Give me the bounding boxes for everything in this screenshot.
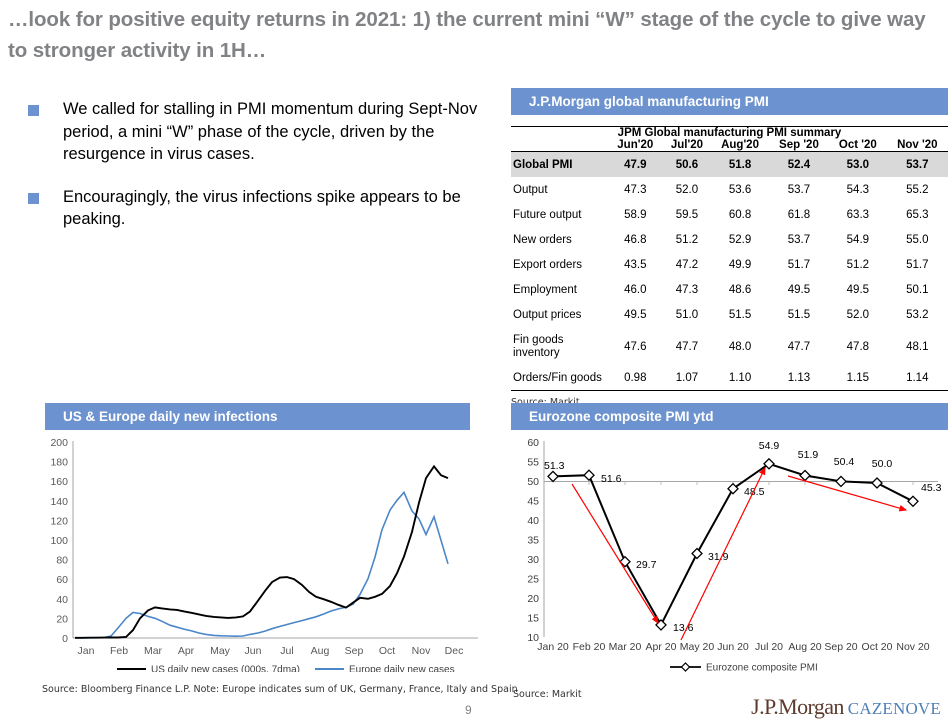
cell: 49.5: [608, 302, 663, 327]
cell: 48.1: [887, 327, 948, 365]
cell: 53.7: [887, 152, 948, 178]
svg-text:35: 35: [527, 535, 539, 547]
svg-text:160: 160: [50, 476, 68, 488]
svg-text:Jul 20: Jul 20: [755, 641, 783, 653]
cell: 53.6: [711, 177, 768, 202]
eurozone-pmi-line-chart: 60 55 50 45 40 35 30 25 20 15 10: [508, 432, 948, 677]
svg-text:51.9: 51.9: [798, 449, 819, 461]
row-label: Output prices: [511, 302, 608, 327]
svg-text:100: 100: [50, 535, 68, 547]
cell: 63.3: [829, 202, 886, 227]
table-header-row: Jun'20 Jul'20 Aug'20 Sep '20 Oct '20 Nov…: [511, 139, 948, 151]
svg-text:50: 50: [527, 476, 539, 488]
eurozone-panel-header-label: Eurozone composite PMI ytd: [529, 409, 714, 424]
cell: 51.5: [769, 302, 829, 327]
column-header: Nov '20: [887, 139, 948, 151]
cell: 59.5: [663, 202, 712, 227]
infections-line-chart: 200 180 160 140 120 100 80 60 40 20 0 Ja…: [38, 432, 483, 672]
cell: 65.3: [887, 202, 948, 227]
page-number: 9: [465, 703, 472, 717]
cell: 58.9: [608, 202, 663, 227]
svg-text:55: 55: [527, 457, 539, 469]
cell: 1.13: [769, 365, 829, 391]
y-axis-labels: 60 55 50 45 40 35 30 25 20 15 10: [527, 437, 539, 644]
svg-text:25: 25: [527, 574, 539, 586]
eurozone-panel-header: Eurozone composite PMI ytd: [511, 403, 948, 430]
table-row: Output 47.3 52.0 53.6 53.7 54.3 55.2: [511, 177, 948, 202]
cell: 1.14: [887, 365, 948, 391]
row-label: New orders: [511, 227, 608, 252]
svg-text:Jun: Jun: [245, 645, 262, 657]
cell: 1.15: [829, 365, 886, 391]
svg-text:50.4: 50.4: [834, 456, 855, 468]
cell: 50.6: [663, 152, 712, 178]
table-title: JPM Global manufacturing PMI summary: [511, 127, 948, 139]
y-axis-labels: 200 180 160 140 120 100 80 60 40 20 0: [50, 437, 68, 645]
svg-text:Oct: Oct: [379, 645, 395, 657]
table-row: Future output 58.9 59.5 60.8 61.8 63.3 6…: [511, 202, 948, 227]
row-label: Fin goods inventory: [511, 327, 608, 365]
svg-text:80: 80: [56, 555, 68, 567]
square-bullet-icon: [28, 193, 39, 204]
logo-primary-text: J.P.Morgan: [751, 694, 844, 719]
svg-text:40: 40: [56, 594, 68, 606]
cell: 49.5: [829, 277, 886, 302]
cell: 55.0: [887, 227, 948, 252]
table-row: Fin goods inventory 47.6 47.7 48.0 47.7 …: [511, 327, 948, 365]
cell: 61.8: [769, 202, 829, 227]
svg-text:Jun 20: Jun 20: [717, 641, 749, 653]
arrow-down-collapse-icon: [572, 484, 658, 623]
infections-panel-header: US & Europe daily new infections: [45, 403, 470, 430]
svg-text:Apr: Apr: [178, 645, 195, 657]
table-row: Employment 46.0 47.3 48.6 49.5 49.5 50.1: [511, 277, 948, 302]
cell: 52.0: [829, 302, 886, 327]
table-row: Output prices 49.5 51.0 51.5 51.5 52.0 5…: [511, 302, 948, 327]
cell: 52.9: [711, 227, 768, 252]
legend-label-us: US daily new cases (000s, 7dma): [151, 665, 300, 673]
row-label: Employment: [511, 277, 608, 302]
chart-legend: US daily new cases (000s, 7dma) Europe d…: [117, 665, 455, 673]
cell: 47.7: [769, 327, 829, 365]
data-labels: 51.3 51.6 29.7 13.6 31.9 48.5 54.9 51.9 …: [544, 440, 942, 634]
cell: 60.8: [711, 202, 768, 227]
table-row: Export orders 43.5 47.2 49.9 51.7 51.2 5…: [511, 252, 948, 277]
svg-text:Mar: Mar: [144, 645, 163, 657]
cell: 55.2: [887, 177, 948, 202]
cell: 1.07: [663, 365, 712, 391]
svg-text:20: 20: [56, 613, 68, 625]
svg-text:54.9: 54.9: [759, 440, 780, 452]
pmi-panel-header-label: J.P.Morgan global manufacturing PMI: [529, 94, 769, 109]
svg-text:30: 30: [527, 554, 539, 566]
column-header: Aug'20: [711, 139, 768, 151]
cell: 47.9: [608, 152, 663, 178]
cell: 53.7: [769, 227, 829, 252]
svg-text:Nov 20: Nov 20: [896, 641, 929, 653]
svg-text:Jan: Jan: [78, 645, 95, 657]
svg-text:60: 60: [56, 574, 68, 586]
svg-text:May 20: May 20: [680, 641, 715, 653]
cell: 0.98: [608, 365, 663, 391]
cell: 52.4: [769, 152, 829, 178]
cell: 51.5: [711, 302, 768, 327]
svg-text:51.6: 51.6: [601, 473, 622, 485]
cell: 48.0: [711, 327, 768, 365]
cell: 43.5: [608, 252, 663, 277]
legend-marker-diamond-icon: [682, 663, 690, 671]
infections-source: Source: Bloomberg Finance L.P. Note: Eur…: [42, 684, 518, 695]
cell: 51.0: [663, 302, 712, 327]
svg-text:Dec: Dec: [445, 645, 464, 657]
list-item: We called for stalling in PMI momentum d…: [28, 98, 488, 166]
svg-text:29.7: 29.7: [636, 559, 657, 571]
cell: 47.3: [608, 177, 663, 202]
svg-text:Sep 20: Sep 20: [824, 641, 857, 653]
bullet-text: We called for stalling in PMI momentum d…: [63, 98, 483, 166]
legend-label-eurozone: Eurozone composite PMI: [706, 663, 818, 674]
svg-text:Jan 20: Jan 20: [537, 641, 569, 653]
svg-text:180: 180: [50, 457, 68, 469]
svg-text:45: 45: [527, 496, 539, 508]
svg-text:45.3: 45.3: [921, 482, 942, 494]
svg-text:Sep: Sep: [345, 645, 364, 657]
cell: 53.7: [769, 177, 829, 202]
table-row: Global PMI 47.9 50.6 51.8 52.4 53.0 53.7: [511, 152, 948, 178]
svg-text:Apr 20: Apr 20: [646, 641, 677, 653]
svg-text:51.3: 51.3: [544, 460, 565, 472]
svg-text:Feb: Feb: [110, 645, 128, 657]
infections-panel-header-label: US & Europe daily new infections: [63, 409, 278, 424]
series-us-line: [75, 466, 448, 637]
cell: 47.7: [663, 327, 712, 365]
pmi-summary-table: JPM Global manufacturing PMI summary Jun…: [511, 127, 948, 391]
eurozone-source: Source: Markit: [513, 689, 582, 700]
svg-text:40: 40: [527, 515, 539, 527]
row-label: Export orders: [511, 252, 608, 277]
svg-text:120: 120: [50, 515, 68, 527]
cell: 53.0: [829, 152, 886, 178]
svg-text:140: 140: [50, 496, 68, 508]
row-label: Orders/Fin goods: [511, 365, 608, 391]
svg-text:Mar 20: Mar 20: [609, 641, 642, 653]
jpmorgan-cazenove-logo: J.P.MorganCAZENOVE: [751, 694, 941, 720]
cell: 46.0: [608, 277, 663, 302]
svg-text:Nov: Nov: [412, 645, 431, 657]
svg-text:48.5: 48.5: [744, 486, 765, 498]
logo-secondary-text: CAZENOVE: [848, 699, 941, 718]
column-header: Oct '20: [829, 139, 886, 151]
cell: 52.0: [663, 177, 712, 202]
bullet-text: Encouragingly, the virus infections spik…: [63, 186, 483, 231]
column-header: Jul'20: [663, 139, 712, 151]
cell: 1.10: [711, 365, 768, 391]
row-label: Global PMI: [511, 152, 608, 178]
list-item: Encouragingly, the virus infections spik…: [28, 186, 488, 231]
cell: 51.2: [663, 227, 712, 252]
cell: 54.9: [829, 227, 886, 252]
cell: 47.8: [829, 327, 886, 365]
svg-text:Feb 20: Feb 20: [573, 641, 606, 653]
series-europe-line: [75, 492, 448, 638]
svg-text:Jul: Jul: [280, 645, 293, 657]
legend-label-europe: Europe daily new cases: [349, 665, 455, 673]
svg-text:Aug 20: Aug 20: [788, 641, 821, 653]
column-header: [511, 139, 608, 151]
pmi-panel-header: J.P.Morgan global manufacturing PMI: [511, 88, 948, 115]
svg-text:200: 200: [50, 437, 68, 449]
x-axis-labels: Jan Feb Mar Apr May Jun Jul Aug Sep Oct …: [78, 645, 464, 657]
square-bullet-icon: [28, 105, 39, 116]
svg-text:13.6: 13.6: [673, 622, 694, 634]
chart-legend: Eurozone composite PMI: [670, 663, 818, 674]
cell: 47.3: [663, 277, 712, 302]
cell: 54.3: [829, 177, 886, 202]
svg-text:May: May: [210, 645, 231, 657]
svg-text:0: 0: [62, 633, 68, 645]
cell: 51.2: [829, 252, 886, 277]
table-row: Orders/Fin goods 0.98 1.07 1.10 1.13 1.1…: [511, 365, 948, 391]
cell: 53.2: [887, 302, 948, 327]
svg-text:60: 60: [527, 437, 539, 449]
svg-text:20: 20: [527, 593, 539, 605]
pmi-table-container: JPM Global manufacturing PMI summary Jun…: [511, 126, 948, 408]
cell: 51.7: [769, 252, 829, 277]
cell: 46.8: [608, 227, 663, 252]
x-axis-labels: Jan 20 Feb 20 Mar 20 Apr 20 May 20 Jun 2…: [537, 641, 930, 653]
svg-text:50.0: 50.0: [872, 458, 893, 470]
table-row: New orders 46.8 51.2 52.9 53.7 54.9 55.0: [511, 227, 948, 252]
cell: 47.2: [663, 252, 712, 277]
bullet-list: We called for stalling in PMI momentum d…: [28, 98, 488, 251]
svg-text:31.9: 31.9: [708, 551, 729, 563]
table-caption-row: JPM Global manufacturing PMI summary: [511, 127, 948, 139]
svg-text:Oct 20: Oct 20: [862, 641, 893, 653]
column-header: Sep '20: [769, 139, 829, 151]
row-label: Output: [511, 177, 608, 202]
svg-text:15: 15: [527, 613, 539, 625]
cell: 51.8: [711, 152, 768, 178]
cell: 48.6: [711, 277, 768, 302]
cell: 49.5: [769, 277, 829, 302]
column-header: Jun'20: [608, 139, 663, 151]
cell: 51.7: [887, 252, 948, 277]
cell: 47.6: [608, 327, 663, 365]
cell: 50.1: [887, 277, 948, 302]
slide-root: …look for positive equity returns in 202…: [0, 0, 949, 725]
svg-text:Aug: Aug: [311, 645, 330, 657]
cell: 49.9: [711, 252, 768, 277]
row-label: Future output: [511, 202, 608, 227]
page-title: …look for positive equity returns in 202…: [8, 4, 946, 66]
